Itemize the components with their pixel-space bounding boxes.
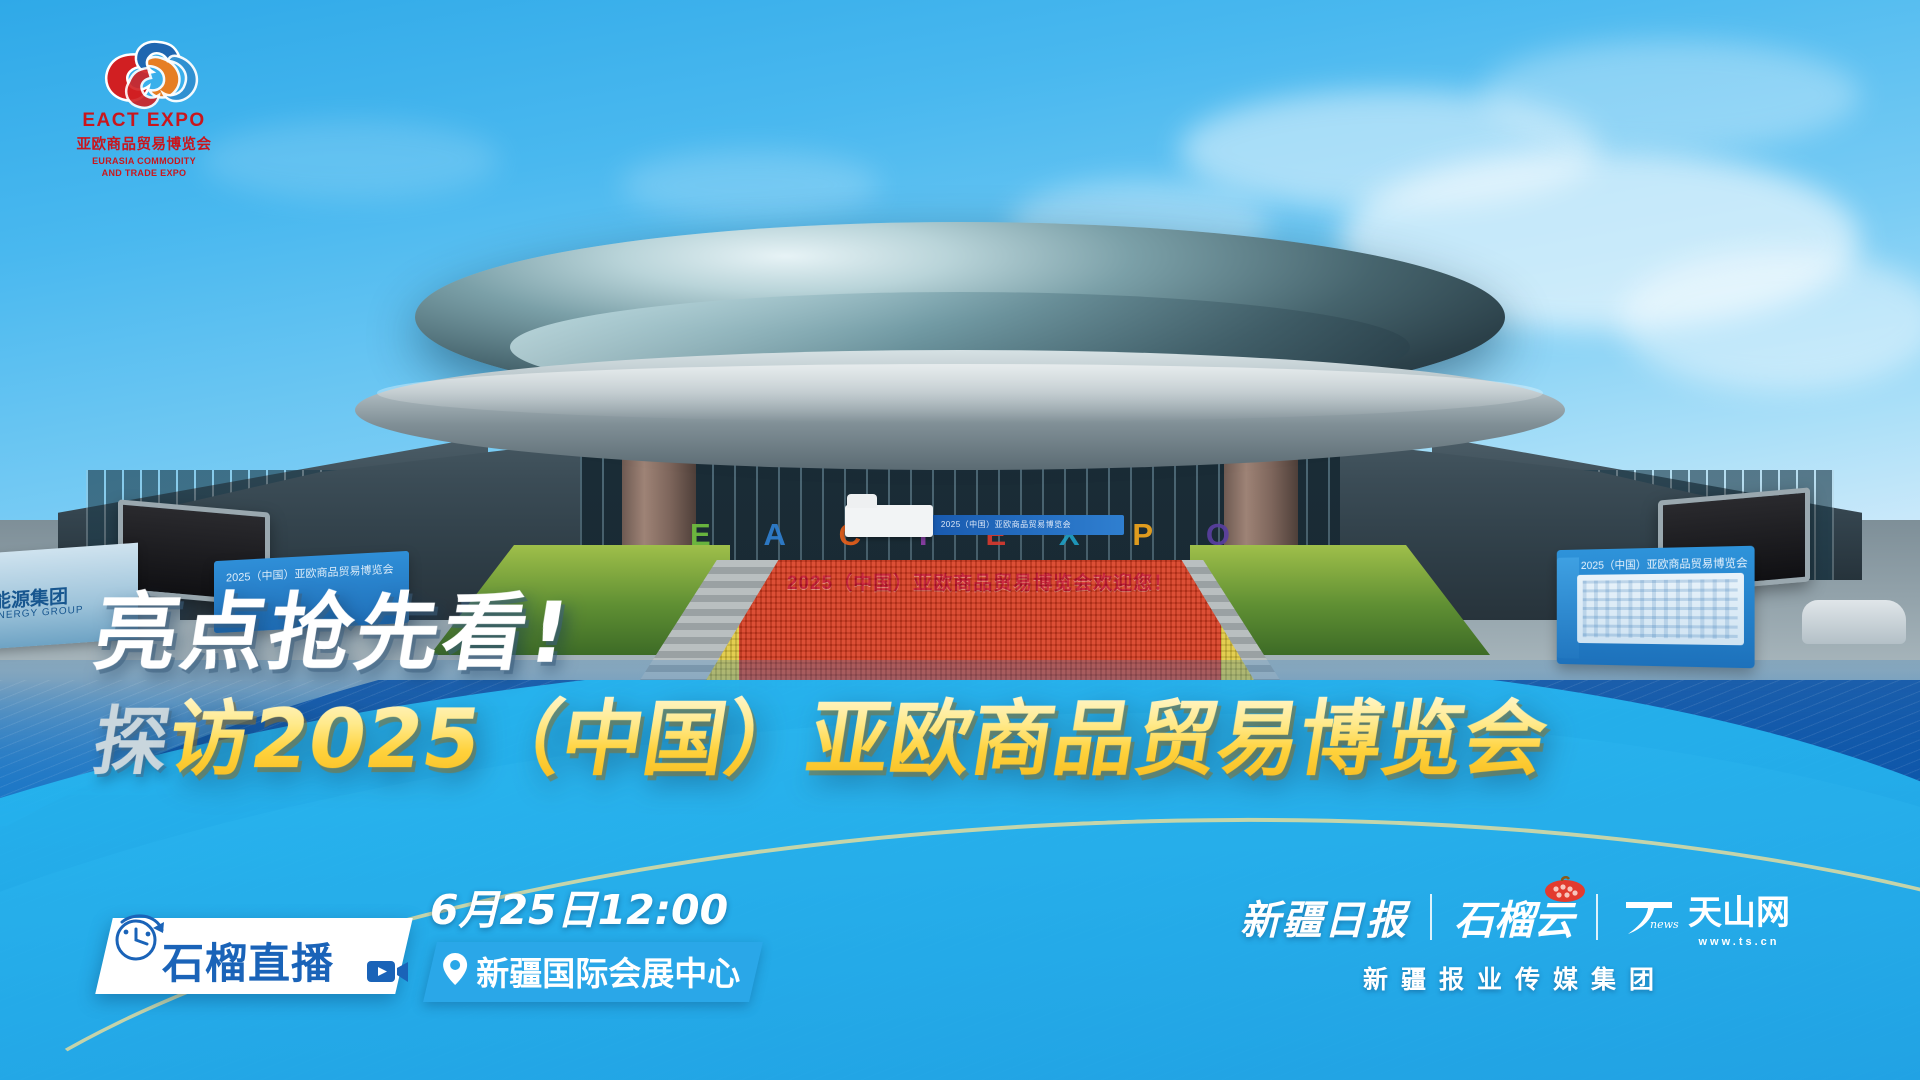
media-brand-tianshan[interactable]: news 天山网 www.ts.cn [1620,885,1790,948]
media-brand-shiliuyun[interactable]: 石榴云 [1454,888,1574,946]
media-brand-tianshan-url: www.ts.cn [1688,936,1790,948]
venue-letter: A [763,519,785,550]
map-pin-icon [442,952,468,991]
parked-car [1802,600,1906,644]
video-camera-icon [366,957,410,990]
live-badge-label: 石榴直播 [162,930,334,991]
map-board-side-panel [1557,557,1579,658]
roof-rim [355,350,1565,470]
expo-swirl-icon [85,34,203,116]
map-board-title: 2025（中国）亚欧商品贸易博览会 [1581,554,1748,573]
service-truck [845,505,933,537]
logo-divider [1430,894,1432,940]
media-group-name: 新疆报业传媒集团 [1240,960,1790,996]
promotional-poster: E A C T E X P O 2025（中国）亚欧商品贸易博览会 2025（中… [0,0,1920,1080]
logo-english-line2: AND TRADE EXPO [52,168,236,178]
media-brand-xinjiang-daily[interactable]: 新疆日报 [1240,888,1408,946]
headline-secondary-prefix: 探 [88,699,177,785]
logo-english-line1: EURASIA COMMODITY [52,156,236,166]
media-group-logos: 新疆日报 石榴云 news 天山网 www.ts. [1240,885,1790,996]
live-location-chip[interactable]: 新疆国际会展中心 [423,942,763,1002]
logo-divider [1596,894,1598,940]
tianshan-mark-icon: news [1620,894,1680,940]
venue-letter: P [1132,519,1153,550]
media-brand-tianshan-name: 天山网 [1688,893,1790,933]
map-board-diagram [1577,573,1744,645]
live-time: 6月25日12:00 [430,876,756,936]
venue-map-board: 2025（中国）亚欧商品贸易博览会 [1557,546,1755,669]
pomegranate-icon [1542,874,1588,904]
headline-secondary: 探访2025（中国）亚欧商品贸易博览会 [87,672,1557,791]
headline-secondary-main: 访2025（中国）亚欧商品贸易博览会 [162,692,1553,787]
logo-abbrev: EACT EXPO [52,110,236,132]
cloud [1480,40,1860,150]
svg-text:news: news [1650,918,1679,931]
media-logo-row: 新疆日报 石榴云 news 天山网 www.ts. [1240,885,1790,948]
flower-bed-text: 2025（中国）亚欧商品贸易博览会欢迎您！ [700,568,1260,595]
clock-rewind-icon [108,908,170,973]
eact-expo-logo[interactable]: EACT EXPO 亚欧商品贸易博览会 EURASIA COMMODITY AN… [52,34,236,184]
live-meta: 6月25日12:00 新疆国际会展中心 [430,876,756,1002]
live-stream-badge[interactable]: 石榴直播 [95,918,413,994]
headline-primary: 亮点抢先看! [86,566,581,687]
logo-chinese-name: 亚欧商品贸易博览会 [52,133,236,154]
live-location-text: 新疆国际会展中心 [476,947,740,995]
